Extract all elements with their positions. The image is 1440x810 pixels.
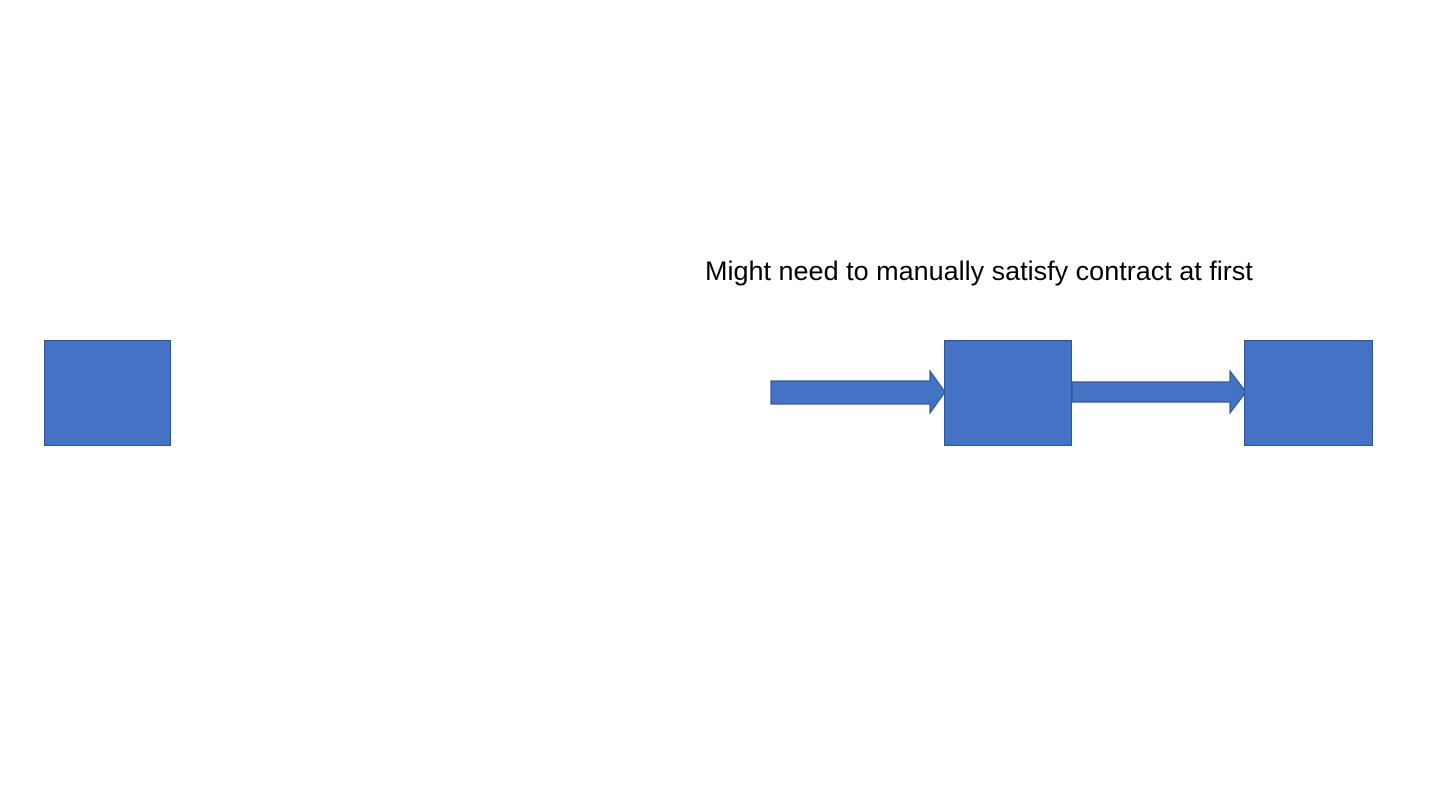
inbound-arrow-icon[interactable] [770,370,946,414]
arrow-shape [1072,371,1246,413]
standalone-box[interactable] [44,340,171,446]
arrow-shape [771,371,945,413]
page-title: Might need to manually satisfy contract … [705,254,1225,288]
flow-box-middle[interactable] [944,340,1072,446]
middle-to-right-arrow-icon[interactable] [1071,370,1247,414]
slide-canvas: Might need to manually satisfy contract … [0,0,1440,810]
flow-box-right[interactable] [1244,340,1373,446]
